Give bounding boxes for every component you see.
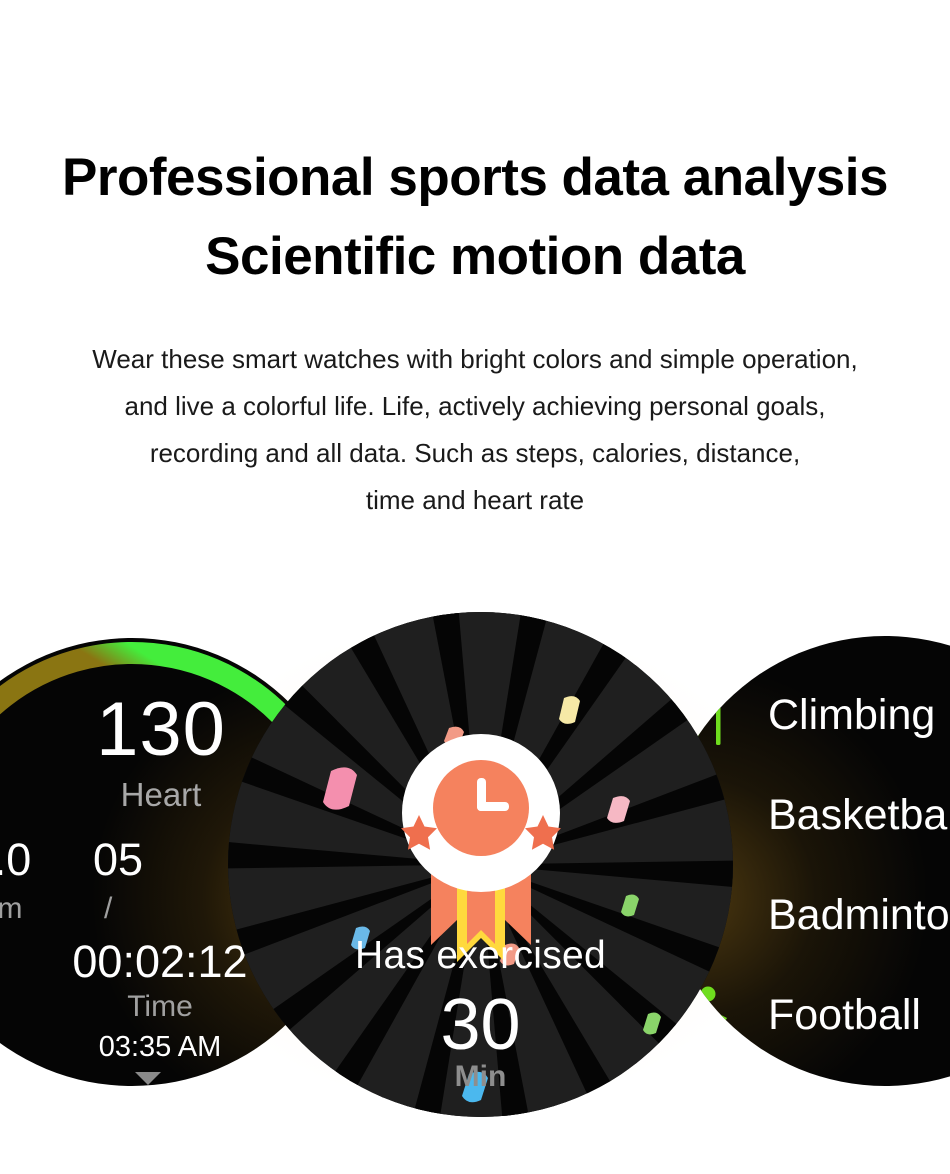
sport-label: Climbing (768, 691, 935, 740)
sport-label: Badminton (768, 891, 950, 940)
caret-down-icon[interactable] (135, 1072, 161, 1085)
watch-center-achievement[interactable]: Has exercised 30 Min (228, 612, 733, 1117)
clock-medal-icon (395, 730, 567, 965)
sport-label: Basketball (768, 791, 950, 840)
body-line-2: and live a colorful life. Life, actively… (0, 383, 950, 430)
body-line-1: Wear these smart watches with bright col… (0, 336, 950, 383)
distance-label: Km (0, 892, 80, 926)
distance-value: 0.0 (0, 834, 80, 886)
body-line-3: recording and all data. Such as steps, c… (0, 430, 950, 477)
body-line-4: time and heart rate (0, 477, 950, 524)
headline-line-1: Professional sports data analysis (0, 138, 950, 217)
sport-label: Football (768, 991, 921, 1040)
headline-line-2: Scientific motion data (0, 217, 950, 296)
page-description: Wear these smart watches with bright col… (0, 336, 950, 524)
promo-page: Professional sports data analysis Scient… (0, 0, 950, 1174)
page-title: Professional sports data analysis Scient… (0, 138, 950, 296)
